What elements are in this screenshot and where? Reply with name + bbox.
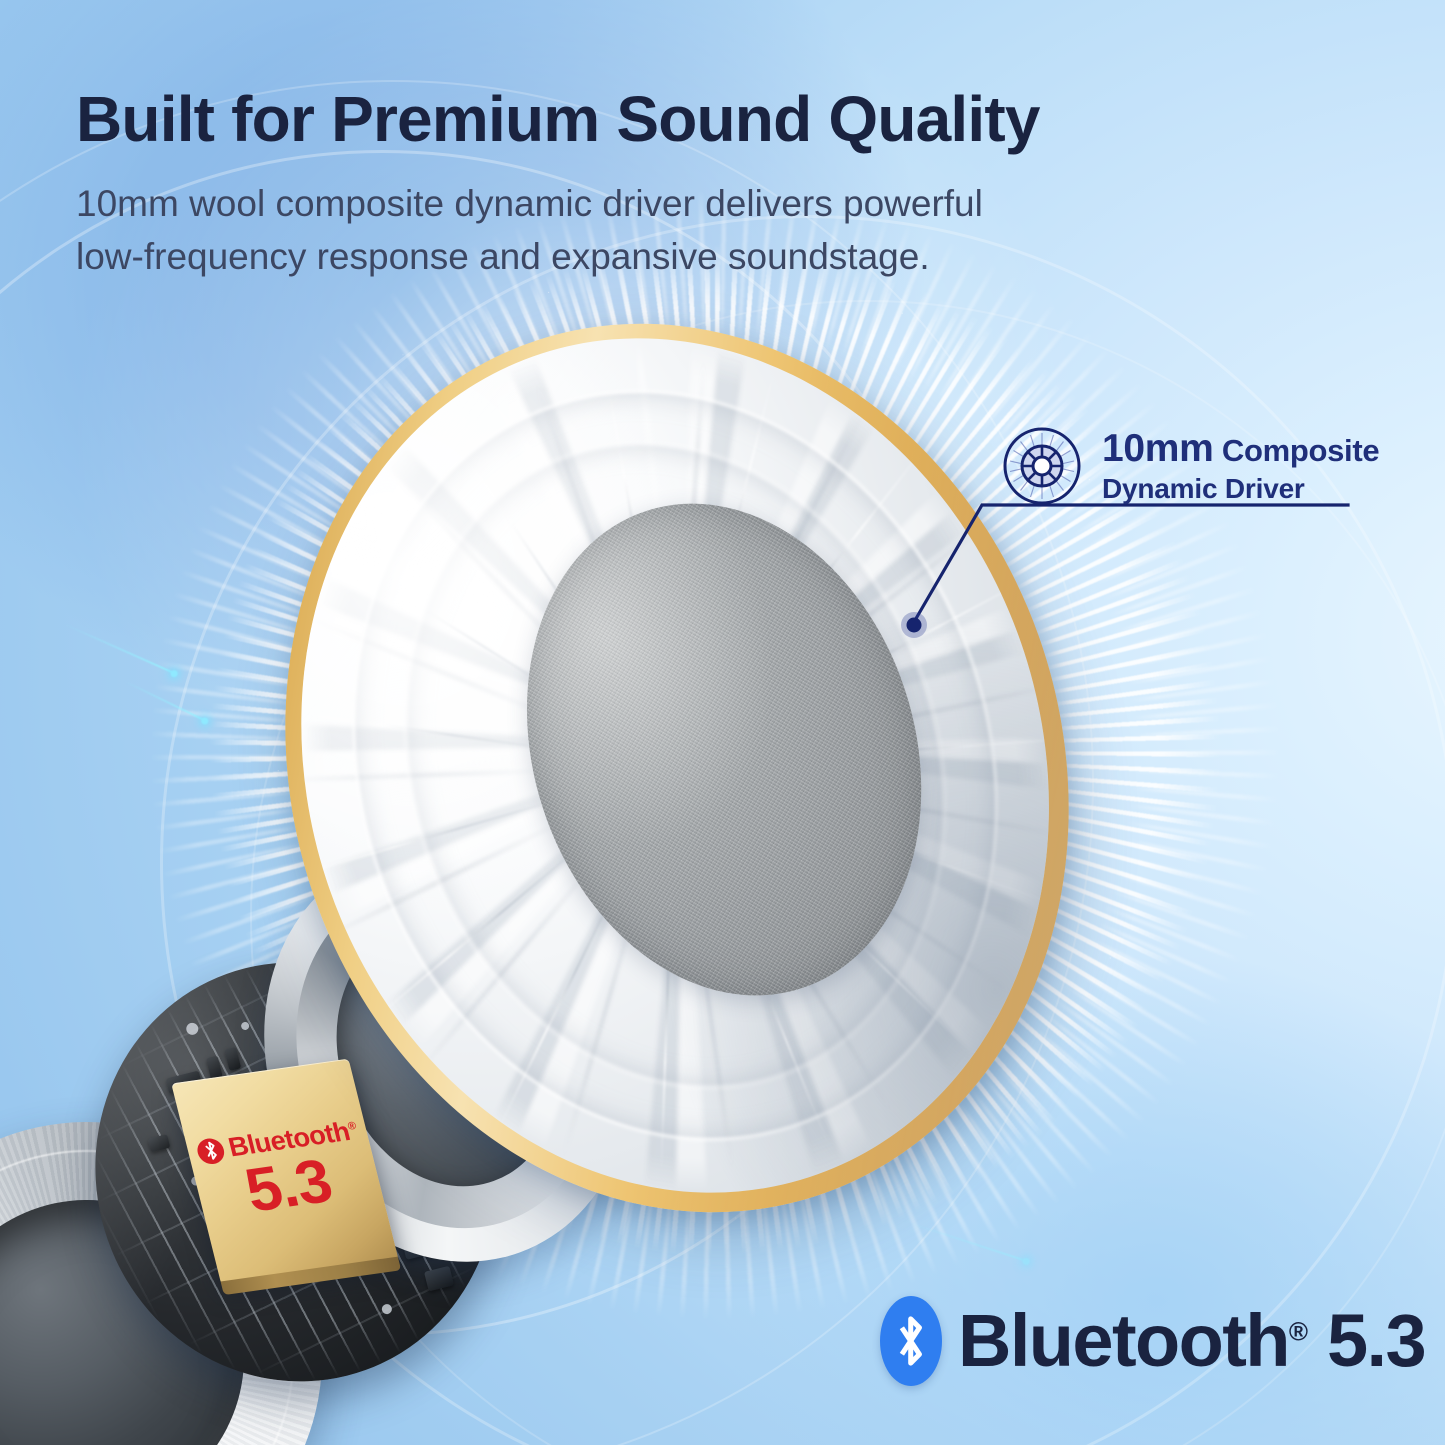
- bluetooth-glyph-icon: [195, 1136, 227, 1165]
- callout-line-1: 10mm Composite: [1102, 433, 1379, 468]
- product-feature-banner: Bluetooth® 5.3: [0, 0, 1445, 1445]
- speaker-driver-icon: [1000, 424, 1084, 508]
- page-title: Built for Premium Sound Quality: [76, 86, 1276, 153]
- chip-version-label: 5.3: [240, 1153, 337, 1222]
- bluetooth-logo-icon: [880, 1296, 942, 1386]
- subtitle-line-2: low-frequency response and expansive sou…: [76, 231, 1256, 284]
- subtitle-line-1: 10mm wool composite dynamic driver deliv…: [76, 178, 1256, 231]
- page-subtitle: 10mm wool composite dynamic driver deliv…: [76, 178, 1256, 283]
- callout-line-2: Dynamic Driver: [1102, 472, 1379, 505]
- driver-callout: 10mm Composite Dynamic Driver: [1000, 424, 1379, 508]
- bluetooth-version-label: Bluetooth® 5.3: [958, 1304, 1425, 1378]
- bluetooth-badge: Bluetooth® 5.3: [880, 1296, 1425, 1386]
